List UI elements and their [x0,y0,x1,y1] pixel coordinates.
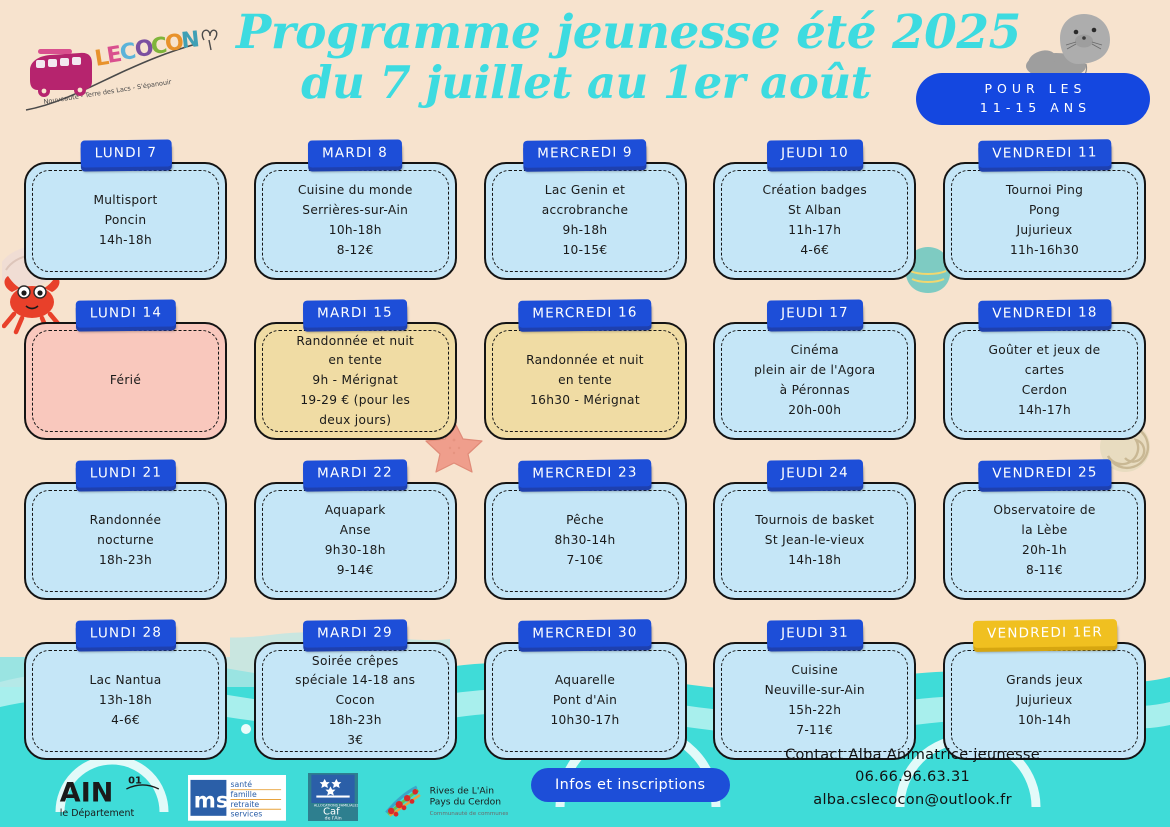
age-badge-line-2: 11-15 ANS [975,99,1091,118]
day-details: Tournoi Ping Pong Jujurieux 11h-16h30 [993,177,1096,264]
logo-msa: msa santé famille retraite services [188,775,286,821]
schedule-grid: LUNDI 7 Multisport Poncin 14h-18h MARDI … [0,140,1170,783]
day-card-body: Cinéma plein air de l'Agora à Péronnas 2… [713,322,916,440]
day-details: Soirée crêpes spéciale 14-18 ans Cocon 1… [282,648,428,755]
day-card[interactable]: JEUDI 10 Création badges St Alban 11h-17… [713,140,916,287]
day-details: Création badges St Alban 11h-17h 4-6€ [750,177,880,264]
day-card[interactable]: VENDREDI 18 Goûter et jeux de cartes Cer… [943,300,1146,447]
day-details: Goûter et jeux de cartes Cerdon 14h-17h [976,337,1114,424]
logo-ain-departement: AIN 01 le Département [58,771,166,821]
title-line-1: Programme jeunesse été 2025 [236,8,936,59]
day-details: Cuisine Neuville-sur-Ain 15h-22h 7-11€ [752,657,878,744]
day-tab: MERCREDI 16 [518,299,652,328]
day-tab: VENDREDI 1ER [972,619,1116,648]
day-card[interactable]: VENDREDI 25 Observatoire de la Lèbe 20h-… [943,460,1146,607]
logo-rives-line-1: Rives de L'Ain [430,786,495,797]
day-details: Grands jeux Jujurieux 10h-14h [993,667,1096,734]
day-card[interactable]: JEUDI 17 Cinéma plein air de l'Agora à P… [713,300,916,447]
week-row-3: LUNDI 21 Randonnée nocturne 18h-23h MARD… [0,460,1170,607]
poster-footer: AIN 01 le Département msa santé famille … [0,742,1170,827]
lecocon-logo: L E C O C O N Nouveauté - Terre des Lacs… [18,18,218,118]
day-card-body: Création badges St Alban 11h-17h 4-6€ [713,162,916,280]
title-line-2: du 7 juillet au 1er août [236,59,936,108]
day-card[interactable]: MERCREDI 16 Randonnée et nuit en tente 1… [484,300,687,447]
day-card[interactable]: MERCREDI 9 Lac Genin et accrobranche 9h-… [484,140,687,287]
day-tab: MERCREDI 30 [518,619,652,648]
day-card[interactable]: MARDI 8 Cuisine du monde Serrières-sur-A… [254,140,457,287]
partner-logos: AIN 01 le Département msa santé famille … [58,771,508,821]
poster-header: L E C O C O N Nouveauté - Terre des Lacs… [0,0,1170,140]
day-tab: JEUDI 10 [767,139,863,167]
day-card-body: Férié [24,322,227,440]
day-card[interactable]: LUNDI 21 Randonnée nocturne 18h-23h [24,460,227,607]
infos-inscriptions-button[interactable]: Infos et inscriptions [531,768,730,802]
day-card[interactable]: VENDREDI 11 Tournoi Ping Pong Jujurieux … [943,140,1146,287]
day-card-body: Pêche 8h30-14h 7-10€ [484,482,687,600]
logo-msa-item-sante: santé [230,781,252,790]
day-card-body: Lac Genin et accrobranche 9h-18h 10-15€ [484,162,687,280]
day-tab: MARDI 15 [303,299,407,327]
day-details: Observatoire de la Lèbe 20h-1h 8-11€ [980,497,1108,584]
day-tab: LUNDI 28 [75,619,176,647]
day-tab: VENDREDI 11 [978,139,1112,168]
day-tab: MARDI 22 [303,459,407,487]
day-card[interactable]: LUNDI 7 Multisport Poncin 14h-18h [24,140,227,287]
day-card-body: Observatoire de la Lèbe 20h-1h 8-11€ [943,482,1146,600]
day-tab: LUNDI 14 [75,299,176,327]
day-details: Lac Nantua 13h-18h 4-6€ [76,667,174,734]
logo-ain-title: AIN [60,777,114,808]
contact-email[interactable]: alba.cslecocon@outlook.fr [785,789,1040,811]
day-details: Tournois de basket St Jean-le-vieux 14h-… [742,507,887,574]
day-details: Cuisine du monde Serrières-sur-Ain 10h-1… [285,177,426,264]
logo-caf: ALLOCATIONS FAMILIALES Caf de l'Ain [308,773,358,821]
age-badge-line-1: POUR LES [980,80,1087,99]
day-card[interactable]: LUNDI 14 Férié [24,300,227,447]
day-details: Aquarelle Pont d'Ain 10h30-17h [537,667,632,734]
poster-title: Programme jeunesse été 2025 du 7 juillet… [236,8,936,107]
day-tab: MERCREDI 9 [523,139,647,168]
day-card-body: Cuisine du monde Serrières-sur-Ain 10h-1… [254,162,457,280]
day-card[interactable]: MARDI 15 Randonnée et nuit en tente 9h -… [254,300,457,447]
day-tab: JEUDI 17 [767,299,863,327]
poster-root: L E C O C O N Nouveauté - Terre des Lacs… [0,0,1170,827]
logo-msa-item-services: services [230,810,262,819]
day-tab: MERCREDI 23 [518,459,652,488]
day-card[interactable]: MARDI 22 Aquapark Anse 9h30-18h 9-14€ [254,460,457,607]
week-row-2: LUNDI 14 Férié MARDI 15 Randonnée et nui… [0,300,1170,447]
day-tab: VENDREDI 18 [978,299,1112,328]
day-details: Randonnée et nuit en tente 9h - Mérignat… [283,328,427,435]
day-details: Multisport Poncin 14h-18h [80,187,170,254]
week-row-1: LUNDI 7 Multisport Poncin 14h-18h MARDI … [0,140,1170,287]
day-card-body: Multisport Poncin 14h-18h [24,162,227,280]
day-tab: VENDREDI 25 [978,459,1112,488]
day-details: Lac Genin et accrobranche 9h-18h 10-15€ [529,177,642,264]
day-card-body: Tournoi Ping Pong Jujurieux 11h-16h30 [943,162,1146,280]
day-details: Aquapark Anse 9h30-18h 9-14€ [312,497,399,584]
logo-ain-subtitle: le Département [60,808,135,819]
day-tab: JEUDI 31 [767,619,863,647]
contact-block: Contact Alba Animatrice jeunesse 06.66.9… [785,744,1040,811]
logo-msa-item-famille: famille [230,790,256,799]
day-tab: LUNDI 21 [75,459,176,487]
day-card-body: Randonnée et nuit en tente 9h - Mérignat… [254,322,457,440]
contact-phone[interactable]: 06.66.96.63.31 [785,766,1040,788]
logo-rives-line-3: Communauté de communes [430,810,508,817]
day-details: Randonnée nocturne 18h-23h [77,507,175,574]
logo-rives-de-lain: Rives de L'Ain Pays du Cerdon Communauté… [380,779,508,821]
day-tab: MARDI 29 [303,619,407,647]
day-card-body: Aquapark Anse 9h30-18h 9-14€ [254,482,457,600]
day-card-body: Goûter et jeux de cartes Cerdon 14h-17h [943,322,1146,440]
day-card-body: Tournois de basket St Jean-le-vieux 14h-… [713,482,916,600]
day-card-body: Randonnée et nuit en tente 16h30 - Mérig… [484,322,687,440]
day-card-body: Randonnée nocturne 18h-23h [24,482,227,600]
age-badge: POUR LES 11-15 ANS [916,73,1150,125]
day-tab: MARDI 8 [308,139,402,167]
day-details: Férié [97,367,154,395]
day-tab: LUNDI 7 [80,139,171,167]
contact-name: Contact Alba Animatrice jeunesse [785,744,1040,766]
day-card[interactable]: MERCREDI 23 Pêche 8h30-14h 7-10€ [484,460,687,607]
lecocon-logo-graphic: L E C O C O N Nouveauté - Terre des Lacs… [18,18,218,118]
day-details: Randonnée et nuit en tente 16h30 - Mérig… [513,347,657,414]
logo-rives-line-2: Pays du Cerdon [430,797,502,808]
day-details: Cinéma plein air de l'Agora à Péronnas 2… [741,337,888,424]
day-details: Pêche 8h30-14h 7-10€ [541,507,628,574]
day-card[interactable]: JEUDI 24 Tournois de basket St Jean-le-v… [713,460,916,607]
logo-msa-item-retraite: retraite [230,800,259,809]
day-tab: JEUDI 24 [767,459,863,487]
svg-text:N: N [180,27,201,54]
logo-caf-region: de l'Ain [325,815,342,821]
